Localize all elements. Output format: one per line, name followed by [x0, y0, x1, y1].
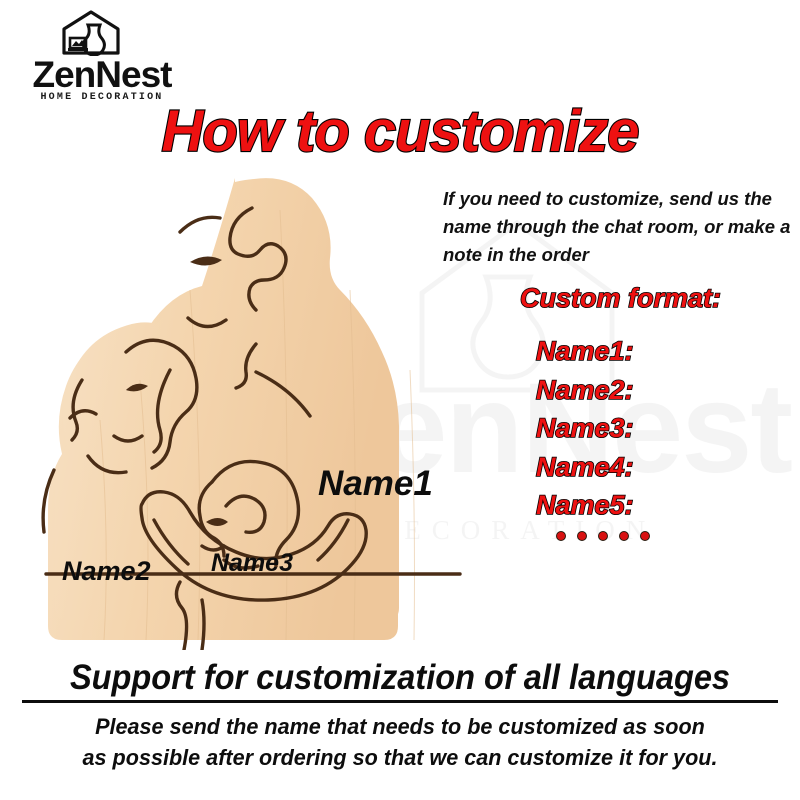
label-name2: Name2 — [62, 558, 151, 585]
support-underline — [22, 700, 778, 703]
custom-format-field: Name5: — [536, 486, 634, 525]
label-name3: Name3 — [211, 551, 293, 576]
custom-format-field: Name4: — [536, 448, 634, 487]
page-title: How to customize — [0, 103, 800, 161]
label-name1: Name1 — [318, 466, 433, 501]
custom-format-field: Name3: — [536, 409, 634, 448]
poster-canvas: ZenNest DECORATION ZenNest HOME DECORATI… — [0, 0, 800, 800]
dot — [619, 531, 629, 541]
footer-note: Please send the name that needs to be cu… — [16, 712, 784, 773]
custom-format-field: Name1: — [536, 332, 634, 371]
intro-text: If you need to customize, send us the na… — [443, 185, 795, 269]
brand-tagline: HOME DECORATION — [22, 92, 182, 103]
footer-note-line: as possible after ordering so that we ca… — [16, 743, 784, 774]
dot — [556, 531, 566, 541]
custom-format-field: Name2: — [536, 371, 634, 410]
ellipsis-dots — [556, 531, 650, 541]
custom-format-title: Custom format: — [520, 285, 721, 312]
dot — [598, 531, 608, 541]
custom-format-list: Name1: Name2: Name3: Name4: Name5: — [536, 332, 634, 525]
footer-note-line: Please send the name that needs to be cu… — [16, 712, 784, 743]
brand-name: ZenNest — [22, 56, 182, 93]
dot — [640, 531, 650, 541]
house-with-vase-icon — [60, 10, 122, 56]
support-heading: Support for customization of all languag… — [28, 660, 772, 695]
dot — [577, 531, 587, 541]
